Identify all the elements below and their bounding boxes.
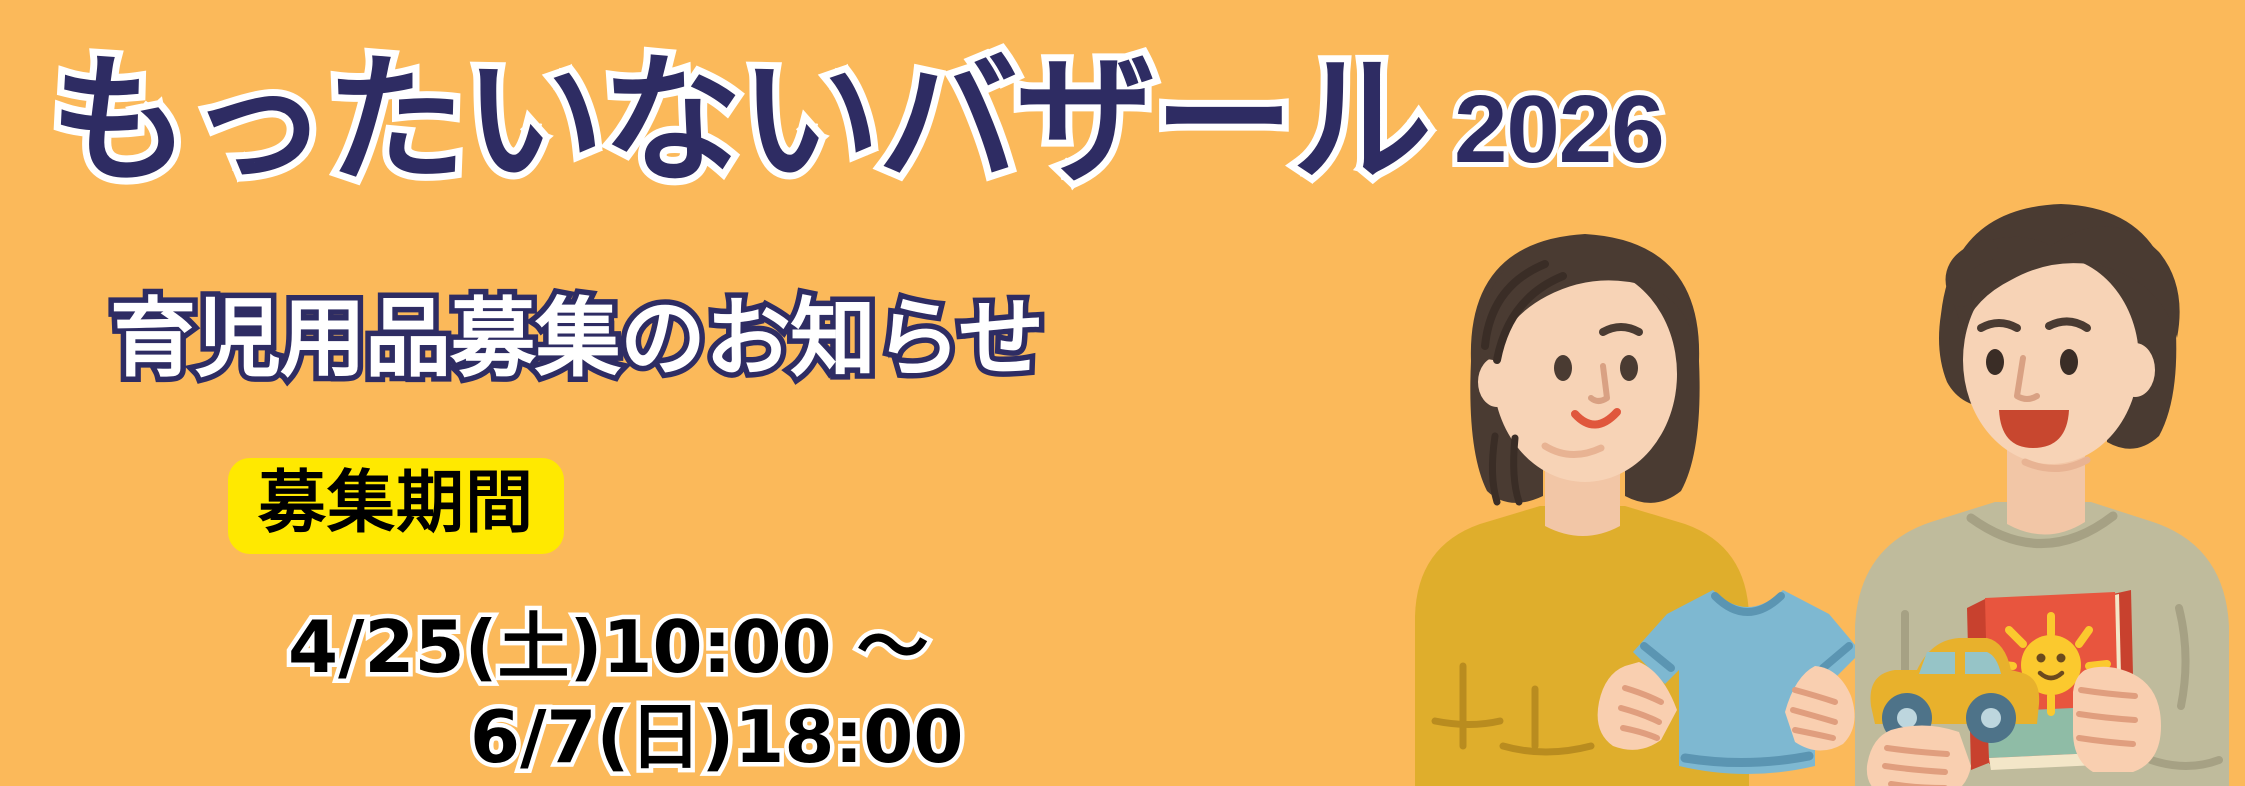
man-figure <box>1855 204 2229 786</box>
period-end-date: 6/7(日)18:00 <box>470 678 964 783</box>
couple-donating-items-illustration <box>1295 146 2245 786</box>
main-title-japanese: もったいないバザール <box>50 48 1430 195</box>
woman-figure <box>1415 234 1861 786</box>
main-title-year: 2026 <box>1454 75 1664 185</box>
subtitle: 育児用品募集のお知らせ <box>110 268 1043 393</box>
period-label-badge: 募集期間 <box>228 458 564 554</box>
bazaar-announcement-banner: もったいないバザール 2026 育児用品募集のお知らせ 募集期間 4/25(土)… <box>0 0 2245 786</box>
text-column: もったいないバザール 2026 育児用品募集のお知らせ 募集期間 4/25(土)… <box>0 0 1340 786</box>
main-title: もったいないバザール 2026 <box>50 48 1664 195</box>
